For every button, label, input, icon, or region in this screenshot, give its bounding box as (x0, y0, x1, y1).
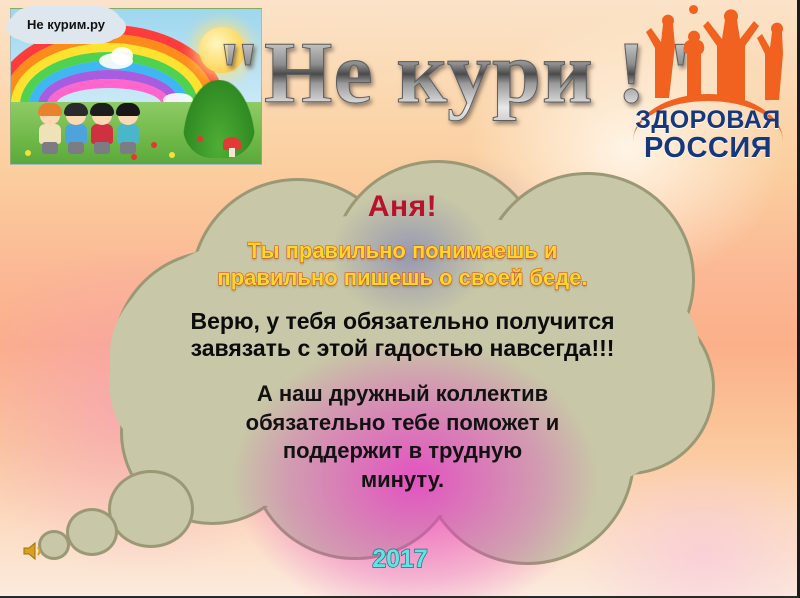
flower-icon (131, 154, 137, 160)
greeting-name: Аня! (130, 190, 675, 224)
year-label: 2017 (0, 545, 800, 574)
presentation-slide: Не курим.ру "Не кури !" ЗДОРОВАЯ РОССИЯ (0, 0, 800, 598)
child-figure (89, 106, 115, 154)
logo-line-1: ЗДОРОВАЯ (625, 106, 791, 135)
logo-dot (689, 5, 698, 14)
black-line: обязательно тебе поможет и (130, 409, 675, 438)
people-silhouettes-icon (625, 2, 791, 106)
black-line: минуту. (130, 466, 675, 495)
cloud-icon (111, 47, 133, 65)
page-title: "Не кури !" (228, 14, 683, 134)
black-line: завязать с этой гадостью навсегда!!! (130, 335, 675, 362)
flower-icon (197, 136, 203, 142)
flower-icon (151, 142, 157, 148)
yellow-line: правильно пишешь о своей беде. (130, 265, 675, 292)
yellow-line: Ты правильно понимаешь и (130, 238, 675, 265)
child-figure (37, 106, 63, 154)
mushroom-icon (223, 137, 241, 150)
black-paragraph-1: Верю, у тебя обязательно получится завяз… (130, 308, 675, 362)
zdorovaya-rossiya-logo: ЗДОРОВАЯ РОССИЯ (625, 2, 791, 164)
yellow-paragraph: Ты правильно понимаешь и правильно пишеш… (130, 238, 675, 292)
site-badge: Не курим.ру (14, 10, 118, 40)
black-paragraph-2: А наш дружный коллектив обязательно тебе… (130, 380, 675, 494)
black-line: А наш дружный коллектив (130, 380, 675, 409)
flower-icon (25, 150, 31, 156)
child-figure (115, 106, 141, 154)
logo-line-2: РОССИЯ (625, 132, 791, 165)
child-figure (63, 106, 89, 154)
flower-icon (169, 152, 175, 158)
black-line: Верю, у тебя обязательно получится (130, 308, 675, 335)
black-line: поддержит в трудную (130, 437, 675, 466)
bubble-text-block: Аня! Ты правильно понимаешь и правильно … (130, 190, 675, 494)
